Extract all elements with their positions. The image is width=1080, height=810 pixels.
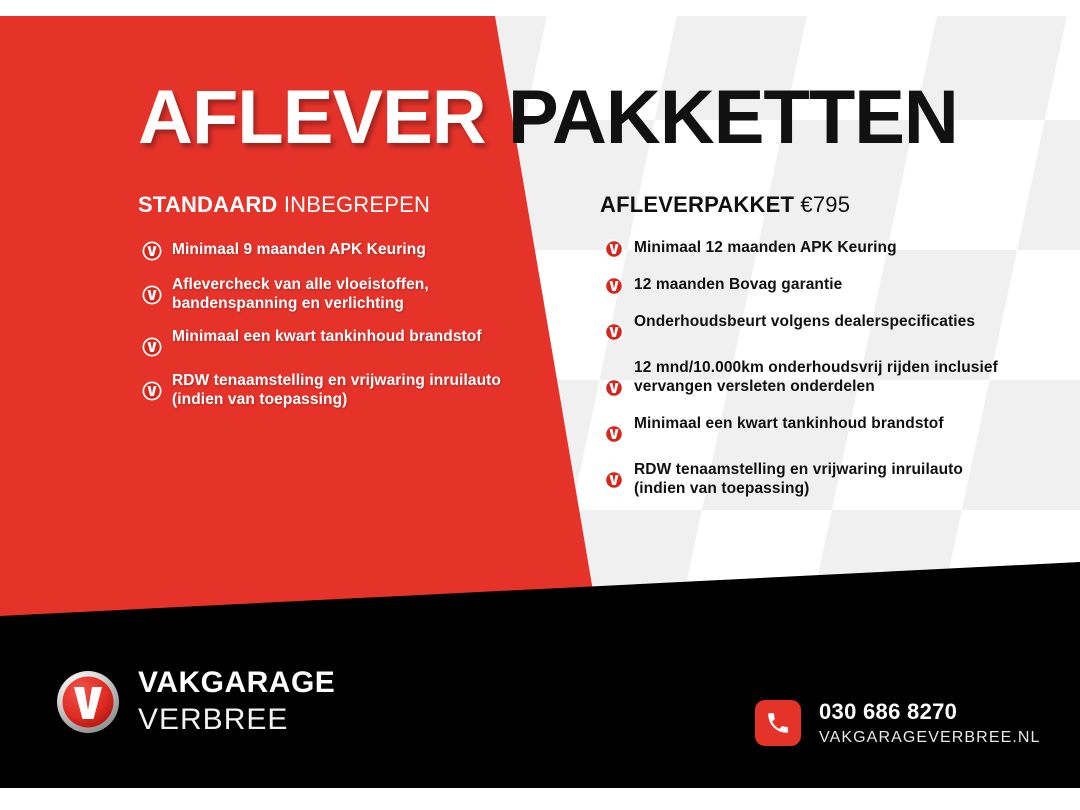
contact-text: 030 686 8270 VAKGARAGEVERBREE.NL xyxy=(819,701,1041,746)
list-item: Onderhoudsbeurt volgens dealerspecificat… xyxy=(604,312,1004,342)
v-badge-icon xyxy=(142,337,162,357)
list-item: Minimaal een kwart tankinhoud brandstof xyxy=(604,414,1004,444)
title-part-aflever: AFLEVER xyxy=(138,78,486,158)
website-url[interactable]: VAKGARAGEVERBREE.NL xyxy=(819,730,1041,746)
list-item: Minimaal 9 maanden APK Keuring xyxy=(142,240,522,261)
list-item: RDW tenaamstelling en vrijwaring inruila… xyxy=(604,460,1004,498)
v-badge-icon xyxy=(142,285,162,305)
list-item-label: 12 mnd/10.000km onderhoudsvrij rijden in… xyxy=(634,358,1004,396)
list-item-label: Minimaal een kwart tankinhoud brandstof xyxy=(634,414,944,433)
vakgarage-v-logo-icon xyxy=(56,670,120,734)
contact-block[interactable]: 030 686 8270 VAKGARAGEVERBREE.NL xyxy=(755,700,1041,746)
brand-wordmark: VAKGARAGE VERBREE xyxy=(138,668,335,735)
list-item: Minimaal 12 maanden APK Keuring xyxy=(604,238,1004,259)
list-item-label: Minimaal een kwart tankinhoud brandstof xyxy=(172,327,482,346)
poster-root: AFLEVER PAKKETTEN STANDAARD INBEGREPEN A… xyxy=(0,0,1080,810)
title-part-pakketten: PAKKETTEN xyxy=(508,78,958,158)
v-badge-icon xyxy=(604,470,624,490)
v-badge-icon xyxy=(604,239,624,259)
brand-line-2: VERBREE xyxy=(138,705,335,735)
v-badge-icon xyxy=(604,424,624,444)
brand-logo: VAKGARAGE VERBREE xyxy=(56,668,335,735)
v-badge-icon xyxy=(142,241,162,261)
list-item: 12 maanden Bovag garantie xyxy=(604,275,1004,296)
left-heading-bold: STANDAARD xyxy=(138,192,278,217)
list-item-label: 12 maanden Bovag garantie xyxy=(634,275,842,294)
v-badge-icon xyxy=(604,378,624,398)
list-item-label: Onderhoudsbeurt volgens dealerspecificat… xyxy=(634,312,975,331)
list-item-label: Minimaal 12 maanden APK Keuring xyxy=(634,238,897,257)
list-item-label: Minimaal 9 maanden APK Keuring xyxy=(172,240,426,259)
standard-included-list: Minimaal 9 maanden APK KeuringAfleverche… xyxy=(142,240,522,423)
left-column-heading: STANDAARD INBEGREPEN xyxy=(138,192,430,218)
list-item-label: RDW tenaamstelling en vrijwaring inruila… xyxy=(172,371,522,409)
phone-number[interactable]: 030 686 8270 xyxy=(819,701,1041,723)
poster-content: AFLEVER PAKKETTEN STANDAARD INBEGREPEN A… xyxy=(0,0,1080,810)
afleverpakket-list: Minimaal 12 maanden APK Keuring12 maande… xyxy=(604,238,1004,514)
page-title: AFLEVER PAKKETTEN xyxy=(0,78,1080,158)
brand-line-1: VAKGARAGE xyxy=(138,668,335,698)
list-item: Minimaal een kwart tankinhoud brandstof xyxy=(142,327,522,357)
right-heading-price: €795 xyxy=(800,192,850,217)
v-badge-icon xyxy=(604,276,624,296)
list-item: 12 mnd/10.000km onderhoudsvrij rijden in… xyxy=(604,358,1004,398)
v-badge-icon xyxy=(604,322,624,342)
right-column-heading: AFLEVERPAKKET €795 xyxy=(600,192,850,218)
list-item: RDW tenaamstelling en vrijwaring inruila… xyxy=(142,371,522,409)
list-item: Aflevercheck van alle vloeistoffen, band… xyxy=(142,275,522,313)
v-badge-icon xyxy=(142,381,162,401)
right-heading-bold: AFLEVERPAKKET xyxy=(600,192,794,217)
list-item-label: RDW tenaamstelling en vrijwaring inruila… xyxy=(634,460,1004,498)
list-item-label: Aflevercheck van alle vloeistoffen, band… xyxy=(172,275,522,313)
left-heading-light: INBEGREPEN xyxy=(284,192,430,217)
phone-icon[interactable] xyxy=(755,700,801,746)
